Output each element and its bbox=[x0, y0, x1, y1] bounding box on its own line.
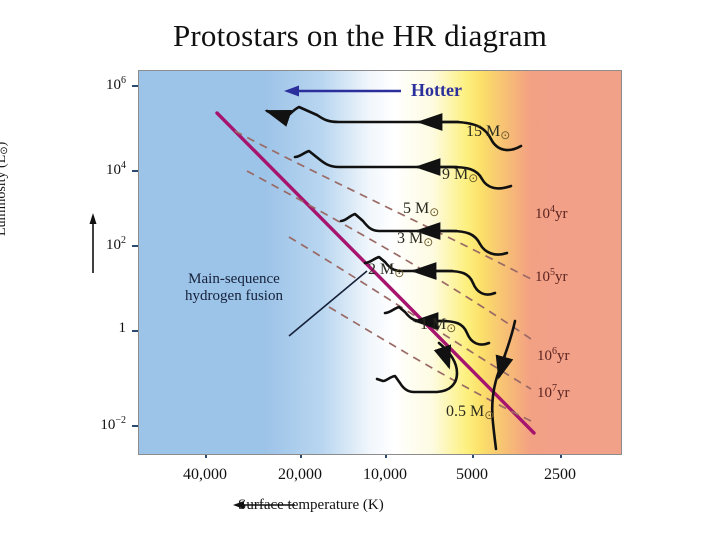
track-05-msun bbox=[492, 321, 515, 449]
isochrone-label-1e7yr: 107yr bbox=[537, 383, 570, 402]
isochrone-label-1e4yr: 104yr bbox=[535, 204, 568, 223]
mass-label-3: 3 M⊙ bbox=[397, 230, 433, 250]
hotter-label: Hotter bbox=[411, 80, 462, 101]
mass-label-1: 1 M⊙ bbox=[420, 316, 456, 336]
mass-label-05: 0.5 M⊙ bbox=[446, 403, 494, 423]
isochrone-label-1e6yr: 106yr bbox=[537, 346, 570, 365]
figure-title: Protostars on the HR diagram bbox=[0, 18, 720, 54]
x-axis-title: Surface temperature (K) bbox=[238, 497, 384, 514]
isochrone-label-1e5yr: 105yr bbox=[535, 267, 568, 286]
mass-label-2: 2 M⊙ bbox=[368, 261, 404, 281]
y-tick-label-1e4: 104 bbox=[60, 160, 126, 179]
mass-label-15: 15 M⊙ bbox=[466, 123, 510, 143]
hr-diagram-figure: Protostars on the HR diagram Luminosity … bbox=[0, 0, 720, 539]
plot-area: Hotter 15 M⊙ 9 M⊙ 5 M⊙ 3 M⊙ 2 M⊙ 1 M⊙ 0.… bbox=[138, 70, 622, 455]
x-tick-label-2500: 2500 bbox=[515, 466, 605, 484]
main-sequence-callout-label: Main-sequence hydrogen fusion bbox=[159, 271, 309, 305]
x-tick-label-40000: 40,000 bbox=[155, 466, 255, 484]
x-tick-label-5000: 5000 bbox=[427, 466, 517, 484]
y-tick-label-1e2: 102 bbox=[60, 235, 126, 254]
track-9-msun bbox=[295, 151, 511, 188]
y-tick-label-1e-2: 10−2 bbox=[55, 415, 126, 434]
isochrone-1e6yr bbox=[289, 237, 531, 389]
track-1-msun bbox=[377, 343, 457, 392]
y-tick-label-1: 1 bbox=[60, 320, 126, 337]
x-tick-label-10000: 10,000 bbox=[335, 466, 435, 484]
mass-label-9: 9 M⊙ bbox=[442, 166, 478, 186]
y-axis-title: Luminosity (L⊙) bbox=[0, 142, 10, 236]
hotter-arrow-icon bbox=[284, 86, 401, 97]
isochrone-1e4yr bbox=[235, 131, 531, 279]
y-tick-label-1e6: 106 bbox=[60, 75, 126, 94]
mass-label-5: 5 M⊙ bbox=[403, 200, 439, 220]
isochrone-1e5yr bbox=[247, 171, 531, 339]
